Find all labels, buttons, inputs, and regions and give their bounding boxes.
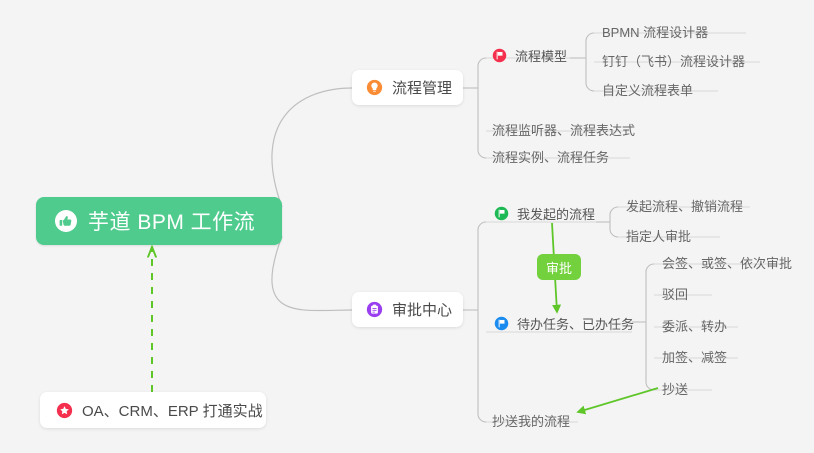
- leaf-node-reject[interactable]: 驳回: [662, 282, 688, 304]
- leaf-node-process-listener-expression[interactable]: 流程监听器、流程表达式: [492, 118, 635, 140]
- arrow-cc-flow: [578, 388, 658, 412]
- sub-node-todo-done-tasks[interactable]: 待办任务、已办任务: [494, 312, 634, 334]
- leaf-label-custom-process-form: 自定义流程表单: [602, 80, 693, 99]
- branch-node-process-management[interactable]: 流程管理: [352, 70, 463, 105]
- sub-node-process-model[interactable]: 流程模型: [492, 44, 567, 66]
- leaf-label-process-listener-expression: 流程监听器、流程表达式: [492, 120, 635, 139]
- link-process-management-bracket: [478, 58, 486, 158]
- leaf-node-add-remove-sign[interactable]: 加签、减签: [662, 345, 727, 367]
- link-root-to-process-management: [272, 88, 352, 207]
- leaf-node-delegate-transfer[interactable]: 委派、转办: [662, 314, 727, 336]
- leaf-node-process-instance-task[interactable]: 流程实例、流程任务: [492, 145, 609, 167]
- branch-label-approval-center: 审批中心: [392, 299, 452, 320]
- clipboard-icon: [366, 301, 383, 318]
- link-root-to-approval-center: [272, 236, 352, 311]
- leaf-label-delegate-transfer: 委派、转办: [662, 316, 727, 335]
- leaf-node-assignee-approval[interactable]: 指定人审批: [626, 224, 691, 246]
- leaf-label-process-instance-task: 流程实例、流程任务: [492, 147, 609, 166]
- branch-node-approval-center[interactable]: 审批中心: [352, 292, 463, 327]
- leaf-label-dingtalk-feishu-designer: 钉钉（飞书）流程设计器: [602, 51, 745, 70]
- sub-label-process-model: 流程模型: [515, 46, 567, 65]
- link-my-initiated-bracket: [610, 207, 618, 237]
- sub-node-my-initiated-process[interactable]: 我发起的流程: [494, 202, 595, 224]
- lightbulb-icon: [366, 79, 383, 96]
- star-badge-icon: [56, 402, 73, 419]
- leaf-label-assignee-approval: 指定人审批: [626, 226, 691, 245]
- branch-label-process-management: 流程管理: [392, 77, 452, 98]
- sub-label-todo-done-tasks: 待办任务、已办任务: [517, 314, 634, 333]
- leaf-label-start-cancel-process: 发起流程、撤销流程: [626, 196, 743, 215]
- leaf-label-cc-to-me-process: 抄送我的流程: [492, 411, 570, 430]
- leaf-node-dingtalk-feishu-designer[interactable]: 钉钉（飞书）流程设计器: [602, 49, 745, 71]
- leaf-node-countersign-or-sequential[interactable]: 会签、或签、依次审批: [662, 251, 792, 273]
- root-node[interactable]: 芋道 BPM 工作流: [36, 197, 282, 245]
- flag-icon: [494, 316, 509, 331]
- leaf-node-cc-to-me-process[interactable]: 抄送我的流程: [492, 409, 570, 431]
- link-todo-done-bracket: [646, 264, 654, 390]
- callout-label-oa-crm-erp: OA、CRM、ERP 打通实战: [82, 400, 263, 421]
- thumbs-up-icon: [54, 209, 78, 233]
- flag-icon: [494, 206, 509, 221]
- callout-node-oa-crm-erp[interactable]: OA、CRM、ERP 打通实战: [40, 392, 266, 428]
- sub-label-my-initiated-process: 我发起的流程: [517, 204, 595, 223]
- leaf-node-cc[interactable]: 抄送: [662, 377, 688, 399]
- link-process-model-bracket: [586, 33, 594, 91]
- link-approval-center-bracket: [478, 222, 486, 422]
- leaf-node-start-cancel-process[interactable]: 发起流程、撤销流程: [626, 194, 743, 216]
- leaf-label-add-remove-sign: 加签、减签: [662, 347, 727, 366]
- flag-icon: [492, 48, 507, 63]
- root-label: 芋道 BPM 工作流: [88, 206, 255, 236]
- leaf-node-bpmn-designer[interactable]: BPMN 流程设计器: [602, 20, 708, 42]
- leaf-node-custom-process-form[interactable]: 自定义流程表单: [602, 78, 693, 100]
- leaf-label-reject: 驳回: [662, 284, 688, 303]
- leaf-label-countersign-or-sequential: 会签、或签、依次审批: [662, 253, 792, 272]
- leaf-label-cc: 抄送: [662, 379, 688, 398]
- approval-badge[interactable]: 审批: [537, 254, 581, 280]
- leaf-label-bpmn-designer: BPMN 流程设计器: [602, 22, 708, 41]
- mindmap-canvas: 芋道 BPM 工作流 流程管理 流程模型 BPMN 流程设计器 钉钉（飞书）流程…: [0, 0, 814, 453]
- approval-badge-label: 审批: [546, 258, 572, 277]
